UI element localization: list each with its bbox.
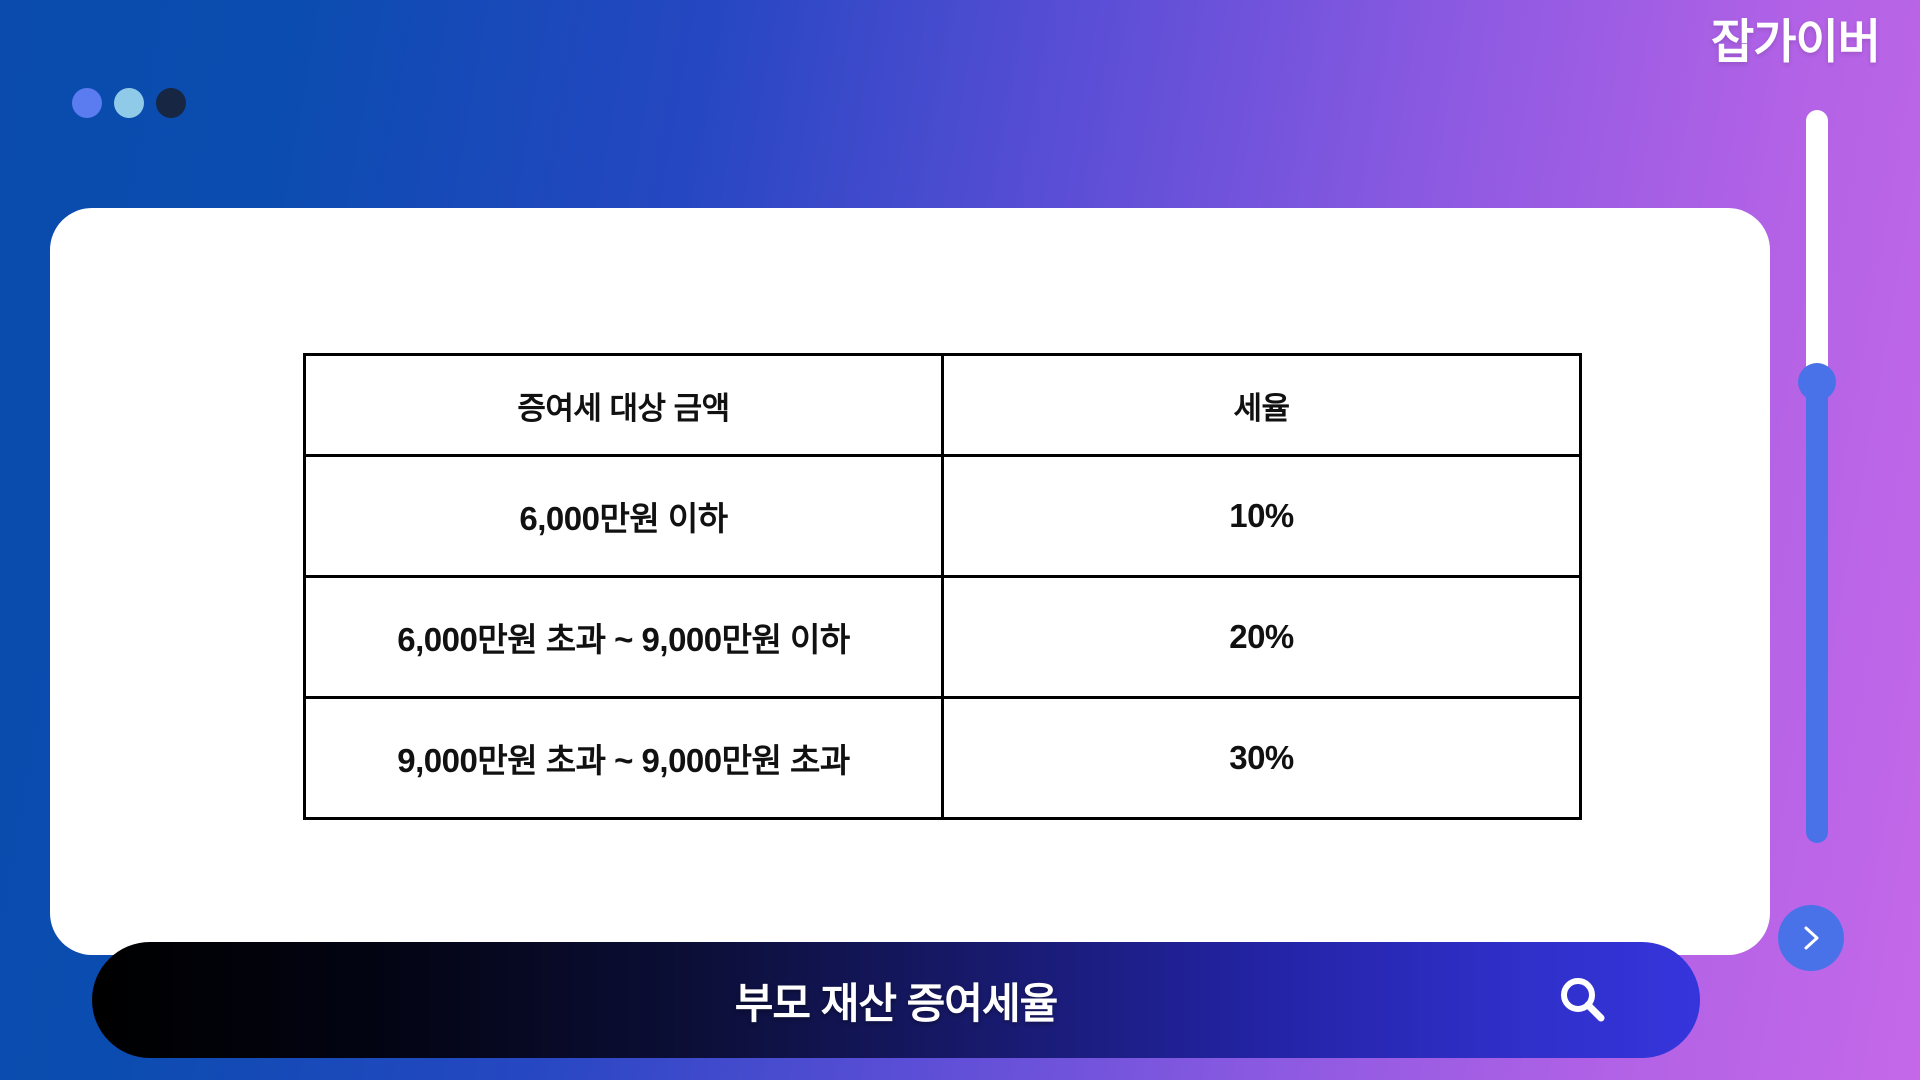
column-header-rate: 세율	[943, 355, 1581, 456]
slider-track-empty	[1806, 110, 1828, 400]
window-dots	[72, 88, 186, 118]
cell-rate: 10%	[943, 456, 1581, 577]
cell-amount: 9,000만원 초과 ~ 9,000만원 초과	[305, 698, 943, 819]
column-header-amount: 증여세 대상 금액	[305, 355, 943, 456]
search-button[interactable]	[1552, 969, 1614, 1031]
content-card: 증여세 대상 금액 세율 6,000만원 이하 10% 6,000만원 초과 ~…	[50, 208, 1770, 955]
dot-three-icon	[156, 88, 186, 118]
chevron-right-icon	[1796, 923, 1826, 953]
search-icon	[1555, 972, 1611, 1028]
table-row: 6,000만원 이하 10%	[305, 456, 1581, 577]
table-row: 6,000만원 초과 ~ 9,000만원 이하 20%	[305, 577, 1581, 698]
slide-canvas: 잡가이버 증여세 대상 금액 세율 6,000만원 이하 10%	[0, 0, 1920, 1080]
slide-title: 부모 재산 증여세율	[735, 970, 1057, 1031]
slider-track-filled	[1806, 372, 1828, 843]
cell-rate: 20%	[943, 577, 1581, 698]
table-header-row: 증여세 대상 금액 세율	[305, 355, 1581, 456]
cell-amount: 6,000만원 이하	[305, 456, 943, 577]
bottom-title-bar: 부모 재산 증여세율	[92, 942, 1700, 1058]
gift-tax-rate-table: 증여세 대상 금액 세율 6,000만원 이하 10% 6,000만원 초과 ~…	[303, 353, 1582, 820]
slider-knob[interactable]	[1798, 363, 1836, 401]
dot-two-icon	[114, 88, 144, 118]
next-button[interactable]	[1778, 905, 1844, 971]
vertical-progress-slider[interactable]	[1806, 110, 1828, 843]
cell-amount: 6,000만원 초과 ~ 9,000만원 이하	[305, 577, 943, 698]
gift-tax-table-wrapper: 증여세 대상 금액 세율 6,000만원 이하 10% 6,000만원 초과 ~…	[303, 353, 1582, 812]
table-row: 9,000만원 초과 ~ 9,000만원 초과 30%	[305, 698, 1581, 819]
dot-one-icon	[72, 88, 102, 118]
cell-rate: 30%	[943, 698, 1581, 819]
brand-logo: 잡가이버	[1711, 14, 1880, 70]
